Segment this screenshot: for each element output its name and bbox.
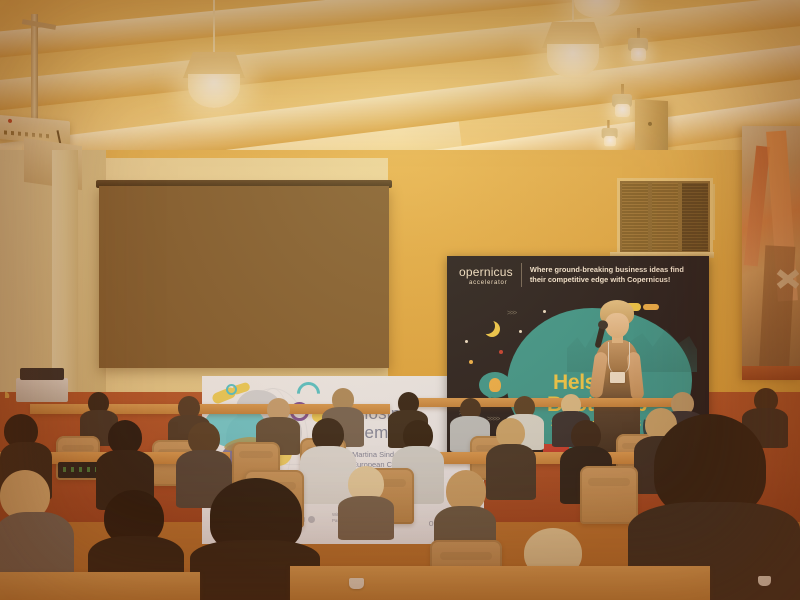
- lamp-cord: [213, 0, 215, 54]
- spotlight-lamp: [604, 136, 616, 146]
- star-dot: [543, 310, 546, 313]
- person-body: [338, 496, 394, 540]
- lamp-bulb: [188, 74, 240, 108]
- artwork-shape: [759, 245, 796, 376]
- banner-header: opernicus accelerator Where ground-break…: [447, 256, 709, 294]
- pendant-lamp: [542, 0, 604, 90]
- wall-artwork-painting: [742, 126, 800, 378]
- banner-tagline-line1: Where ground-breaking business ideas fin…: [530, 265, 684, 275]
- banner-tagline-line2: their competitive edge with Copernicus!: [530, 275, 684, 285]
- speech-bubble-icon: [479, 372, 511, 398]
- projection-screen: Closing Remarks Martina Sindelar Europea…: [99, 186, 389, 368]
- name-badge: [610, 372, 625, 383]
- banner-copernicus-logo: opernicus accelerator: [459, 264, 513, 286]
- star-dot: [465, 340, 468, 343]
- projector-vents: [4, 130, 50, 138]
- artwork-lower-frame: [742, 366, 800, 380]
- coffee-cup: [349, 578, 364, 589]
- projector-mount-pole: [31, 14, 38, 122]
- window-pane: [652, 183, 678, 251]
- banner-accelerator-wordmark: accelerator: [469, 280, 513, 286]
- window-pane: [622, 183, 648, 251]
- pendant-lamp: [183, 0, 245, 104]
- lamp-cord: [572, 0, 574, 24]
- lanyard: [608, 342, 630, 374]
- projector-led: [8, 119, 12, 123]
- conference-room-photo: Closing Remarks Martina Sindelar Europea…: [0, 0, 800, 600]
- audience-person: [338, 466, 394, 536]
- lamp-bulb: [547, 44, 599, 78]
- star-dot: [469, 360, 473, 364]
- banner-tagline: Where ground-breaking business ideas fin…: [530, 265, 684, 285]
- hand-icon: [489, 378, 501, 392]
- slide-decor-teal-ring: [226, 384, 237, 395]
- presenter-face: [605, 313, 629, 338]
- spotlight-lamp: [631, 48, 646, 61]
- banner-copernicus-wordmark: opernicus: [459, 265, 513, 279]
- chevron-decor: >>>: [507, 310, 516, 317]
- spotlight-lamp: [615, 104, 630, 117]
- window-pane: [682, 183, 708, 251]
- coffee-cup: [758, 576, 771, 586]
- ceiling-speaker-box: [635, 99, 668, 153]
- banner-divider: [521, 263, 522, 287]
- window-with-blinds: [617, 178, 713, 256]
- star-dot: [519, 330, 522, 333]
- star-dot: [499, 350, 503, 354]
- table-front-edge: [0, 572, 200, 600]
- moon-icon: [479, 318, 495, 334]
- laptop: [16, 378, 68, 402]
